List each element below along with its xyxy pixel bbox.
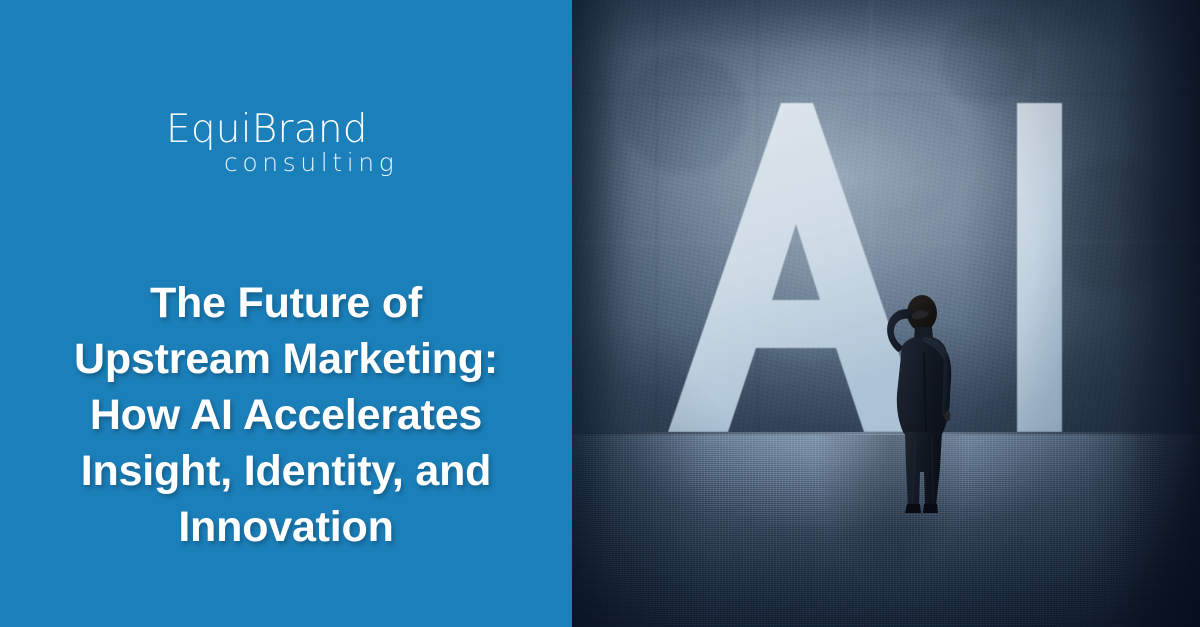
logo-lockup: EquiBrand consulting <box>166 108 406 184</box>
logo-tagline: consulting <box>224 148 398 178</box>
logo-wordmark-part1: Equi <box>166 107 252 152</box>
page-title: The Future of Upstream Marketing: How AI… <box>24 275 548 555</box>
logo-wordmark: EquiBrand <box>166 108 368 152</box>
businessman-figure <box>872 292 968 524</box>
equibrand-logo[interactable]: EquiBrand consulting <box>0 108 572 188</box>
logo-wordmark-part2: Brand <box>252 107 368 152</box>
hero-photo <box>572 0 1200 627</box>
social-share-banner: EquiBrand consulting The Future of Upstr… <box>0 0 1200 627</box>
left-text-panel: EquiBrand consulting The Future of Upstr… <box>0 0 572 627</box>
